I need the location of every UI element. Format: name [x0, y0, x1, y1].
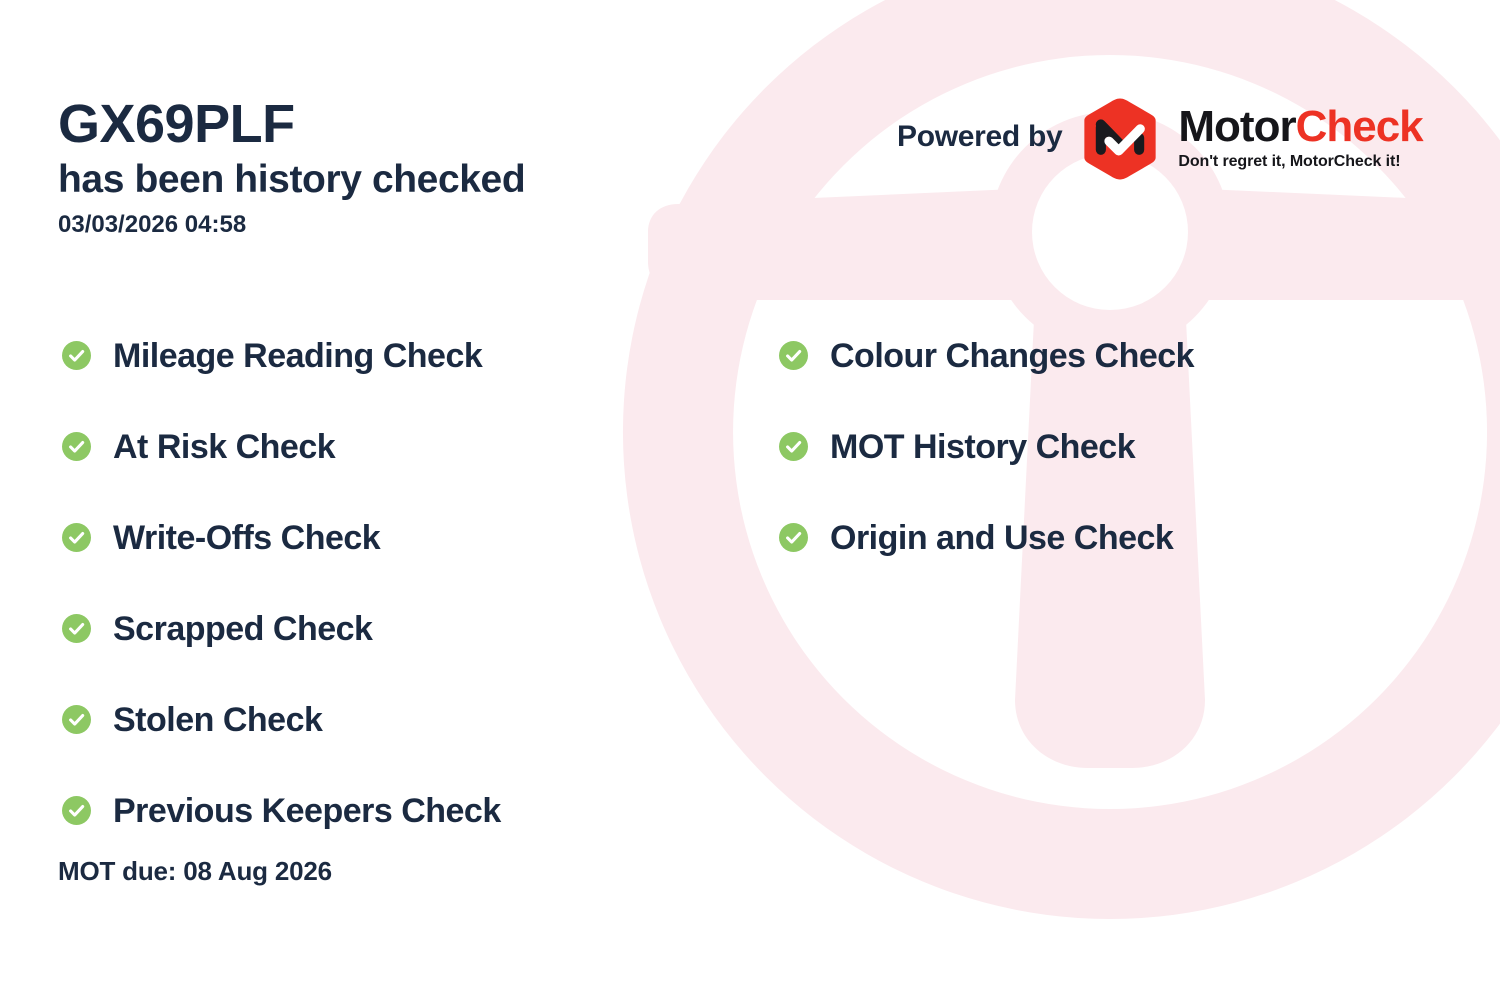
- checks-left-column: Mileage Reading Check At Risk Check Writ…: [62, 310, 501, 856]
- check-circle-icon: [779, 432, 808, 461]
- check-item-label: Mileage Reading Check: [113, 339, 482, 373]
- check-circle-icon: [62, 523, 91, 552]
- check-item-label: Colour Changes Check: [830, 339, 1194, 373]
- check-item-label: Origin and Use Check: [830, 521, 1173, 555]
- check-item: Scrapped Check: [62, 583, 501, 674]
- motorcheck-hexagon-logo-icon: [1076, 95, 1164, 183]
- check-timestamp: 03/03/2026 04:58: [58, 211, 818, 240]
- check-item-label: Scrapped Check: [113, 612, 372, 646]
- check-item: MOT History Check: [779, 401, 1194, 492]
- check-circle-icon: [62, 432, 91, 461]
- check-circle-icon: [62, 614, 91, 643]
- vehicle-registration: GX69PLF: [58, 96, 818, 153]
- check-circle-icon: [779, 523, 808, 552]
- wordmark-block: MotorCheck Don't regret it, MotorCheck i…: [1178, 105, 1422, 173]
- check-item: Colour Changes Check: [779, 310, 1194, 401]
- check-item-label: Stolen Check: [113, 703, 322, 737]
- checks-right-column: Colour Changes Check MOT History Check O…: [779, 310, 1194, 583]
- motorcheck-wordmark: MotorCheck: [1178, 105, 1422, 149]
- wordmark-check: Check: [1296, 102, 1423, 151]
- check-item-label: At Risk Check: [113, 430, 335, 464]
- check-item-label: Write-Offs Check: [113, 521, 380, 555]
- status-headline: has been history checked: [58, 157, 818, 203]
- brand-block: Powered by MotorCheck Don't regret it, M…: [897, 95, 1423, 183]
- check-circle-icon: [62, 796, 91, 825]
- check-item: Previous Keepers Check: [62, 765, 501, 856]
- check-item: Origin and Use Check: [779, 492, 1194, 583]
- mot-due-label: MOT due: 08 Aug 2026: [58, 856, 332, 887]
- check-item: Write-Offs Check: [62, 492, 501, 583]
- check-item: Mileage Reading Check: [62, 310, 501, 401]
- check-circle-icon: [779, 341, 808, 370]
- check-item: Stolen Check: [62, 674, 501, 765]
- wordmark-motor: Motor: [1178, 102, 1295, 151]
- check-item-label: Previous Keepers Check: [113, 794, 501, 828]
- history-check-banner: GX69PLF has been history checked 03/03/2…: [0, 0, 1500, 1000]
- check-item: At Risk Check: [62, 401, 501, 492]
- header-block: GX69PLF has been history checked 03/03/2…: [58, 96, 818, 240]
- check-circle-icon: [62, 705, 91, 734]
- check-circle-icon: [62, 341, 91, 370]
- check-item-label: MOT History Check: [830, 430, 1135, 464]
- powered-by-label: Powered by: [897, 120, 1062, 158]
- brand-tagline: Don't regret it, MotorCheck it!: [1178, 153, 1422, 171]
